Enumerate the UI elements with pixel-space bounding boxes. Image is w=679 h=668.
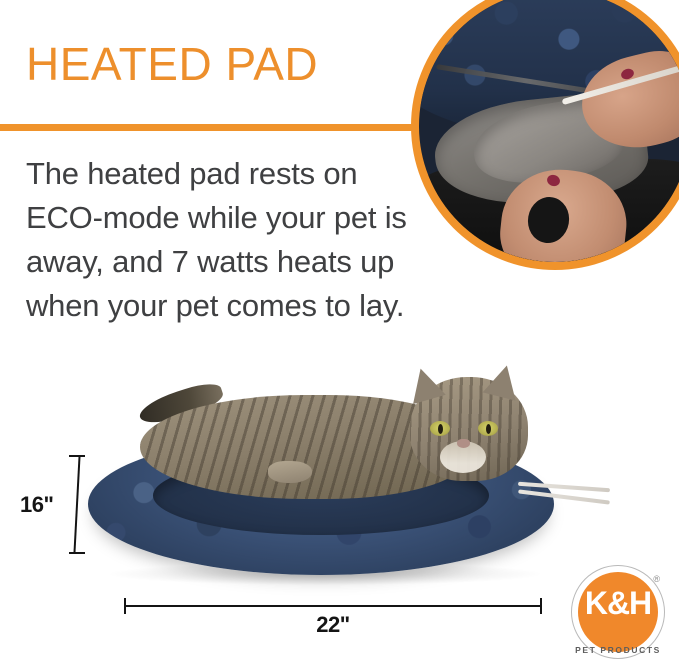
product-photo: [70, 355, 610, 590]
header-divider-rule: [0, 124, 424, 131]
cat-nose: [457, 439, 470, 448]
description-text: The heated pad rests on ECO-mode while y…: [26, 152, 430, 328]
registered-trademark-icon: ®: [653, 574, 660, 584]
cat-ear-right: [483, 361, 524, 400]
cat-eye-right: [478, 421, 498, 436]
height-dimension-line: [69, 455, 85, 554]
dimension-cap-bottom: [69, 552, 85, 554]
dimension-stroke: [126, 605, 540, 607]
logo-tagline: PET PRODUCTS: [571, 645, 665, 655]
pupil: [438, 424, 443, 434]
width-dimension-label: 22": [124, 612, 542, 638]
cat-paw: [268, 461, 312, 483]
dimension-stroke: [74, 457, 81, 552]
dimension-cap-top: [69, 455, 85, 457]
tabby-cat: [140, 369, 520, 509]
power-cord: [518, 483, 610, 505]
page-title: HEATED PAD: [26, 41, 318, 87]
cat-ear-left: [404, 364, 446, 404]
height-dimension-label: 16": [20, 492, 53, 518]
logo-wordmark: K&H: [571, 587, 665, 619]
infographic-canvas: HEATED PAD The heated pad rests on ECO-m…: [0, 0, 679, 668]
pupil: [486, 424, 491, 434]
kh-pet-products-logo: K&H ® PET PRODUCTS: [571, 565, 665, 659]
inset-photo-circle: [411, 0, 679, 270]
cat-head: [410, 377, 528, 481]
inset-photo-image: [419, 0, 679, 262]
cat-eye-left: [430, 421, 450, 436]
